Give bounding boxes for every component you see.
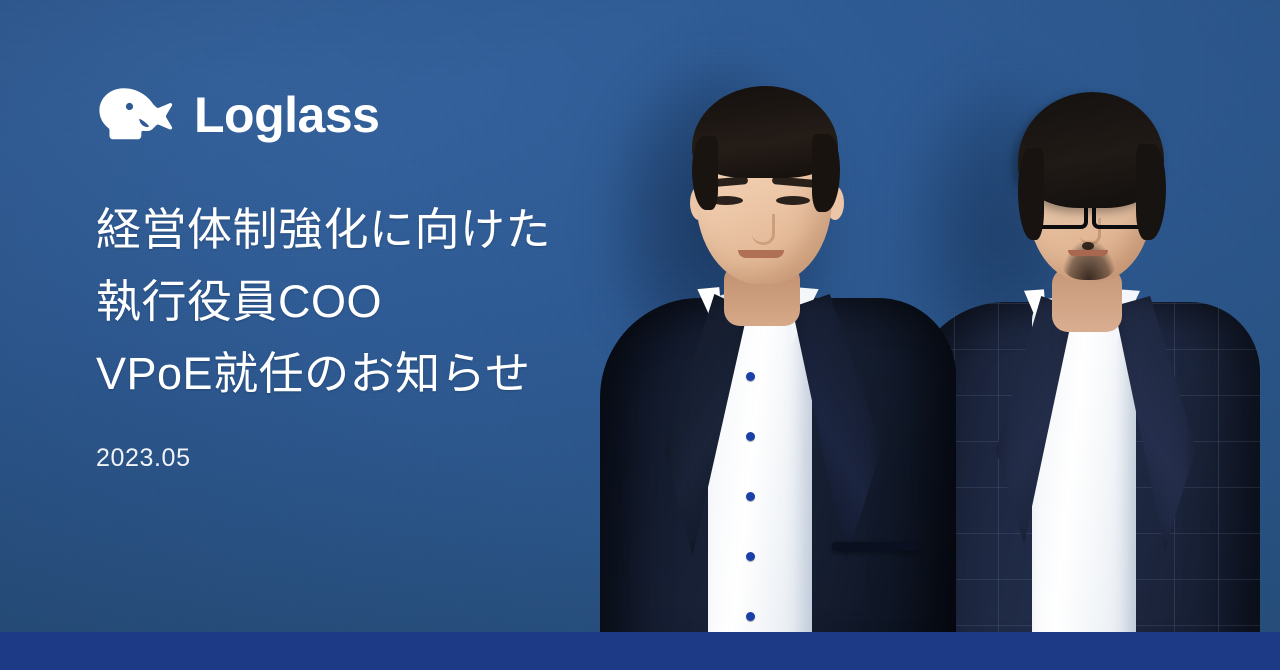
- headline-line-2: 執行役員COO: [96, 266, 551, 338]
- headline: 経営体制強化に向けた 執行役員COO VPoE就任のお知らせ: [96, 194, 551, 410]
- brand-logo: Loglass: [96, 84, 551, 146]
- whale-icon: [96, 86, 180, 144]
- person-right-soul-patch: [1082, 242, 1094, 250]
- shirt-button: [746, 612, 755, 621]
- person-left-nose: [752, 214, 775, 245]
- key-visual-banner: Loglass 経営体制強化に向けた 執行役員COO VPoE就任のお知らせ 2…: [0, 0, 1280, 670]
- publication-date: 2023.05: [96, 444, 551, 473]
- person-left-suit-pocket: [832, 542, 918, 551]
- headline-line-3: VPoE就任のお知らせ: [96, 338, 551, 410]
- person-right-hair-side-right: [1136, 144, 1166, 240]
- text-block: Loglass 経営体制強化に向けた 執行役員COO VPoE就任のお知らせ 2…: [96, 84, 551, 473]
- person-left-eye-right: [776, 196, 810, 205]
- person-left-mouth: [738, 250, 784, 258]
- shirt-button: [746, 552, 755, 561]
- person-left: [596, 50, 976, 670]
- shirt-button: [746, 492, 755, 501]
- person-left-hair-side-left: [692, 136, 718, 210]
- bottom-accent-bar: [0, 632, 1280, 670]
- person-right-mouth: [1068, 250, 1108, 256]
- shirt-button: [746, 372, 755, 381]
- shirt-button: [746, 432, 755, 441]
- brand-wordmark: Loglass: [194, 90, 379, 140]
- person-right-hair-side-left: [1018, 148, 1044, 240]
- headline-line-1: 経営体制強化に向けた: [96, 194, 551, 266]
